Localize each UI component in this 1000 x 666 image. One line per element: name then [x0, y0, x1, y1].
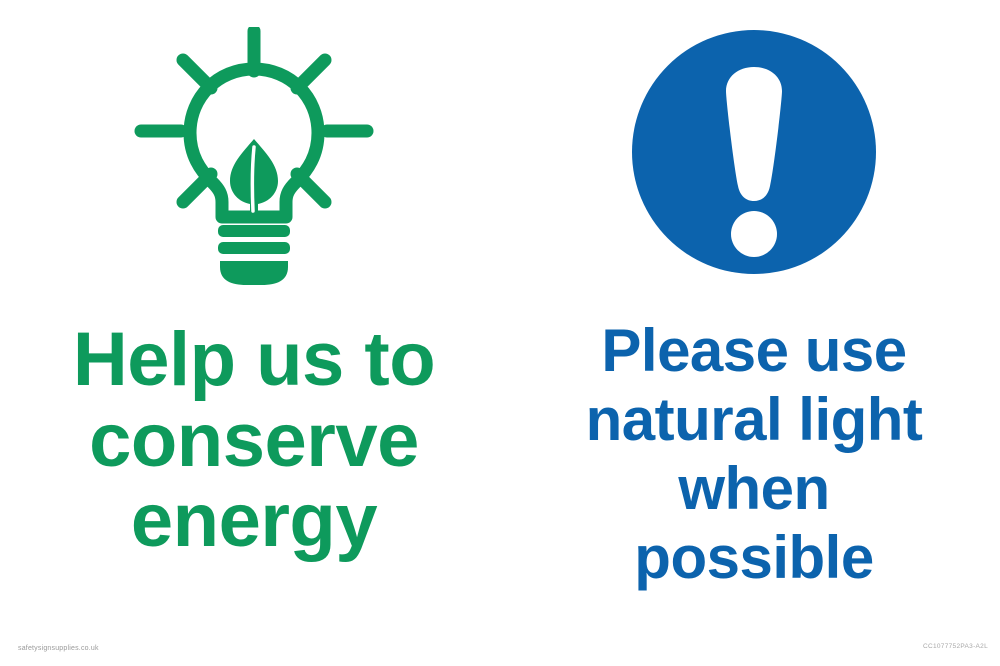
mandatory-sign-pictogram: [508, 0, 1000, 302]
exclamation-dot-icon: [731, 211, 777, 257]
energy-saving-bulb-pictogram: [0, 0, 508, 308]
conserve-energy-panel: Help us to conserve energy: [0, 0, 508, 666]
product-code-text: CC1077752PA3-A2L: [923, 643, 988, 650]
energy-saving-bulb-icon: [134, 27, 374, 289]
bulb-base-band-lower-icon: [218, 242, 290, 254]
bulb-base-band-upper-icon: [218, 225, 290, 237]
natural-light-panel: Please use natural light when possible: [508, 0, 1000, 666]
safety-sign-board: Help us to conserve energy Please use na…: [0, 0, 1000, 666]
conserve-energy-message: Help us to conserve energy: [0, 320, 508, 562]
natural-light-message: Please use natural light when possible: [508, 316, 1000, 592]
leaf-vein-icon: [252, 147, 254, 211]
website-credit-text: safetysignsupplies.co.uk: [18, 645, 99, 652]
bulb-base-cap-icon: [220, 261, 288, 285]
mandatory-exclamation-icon: [630, 28, 878, 276]
